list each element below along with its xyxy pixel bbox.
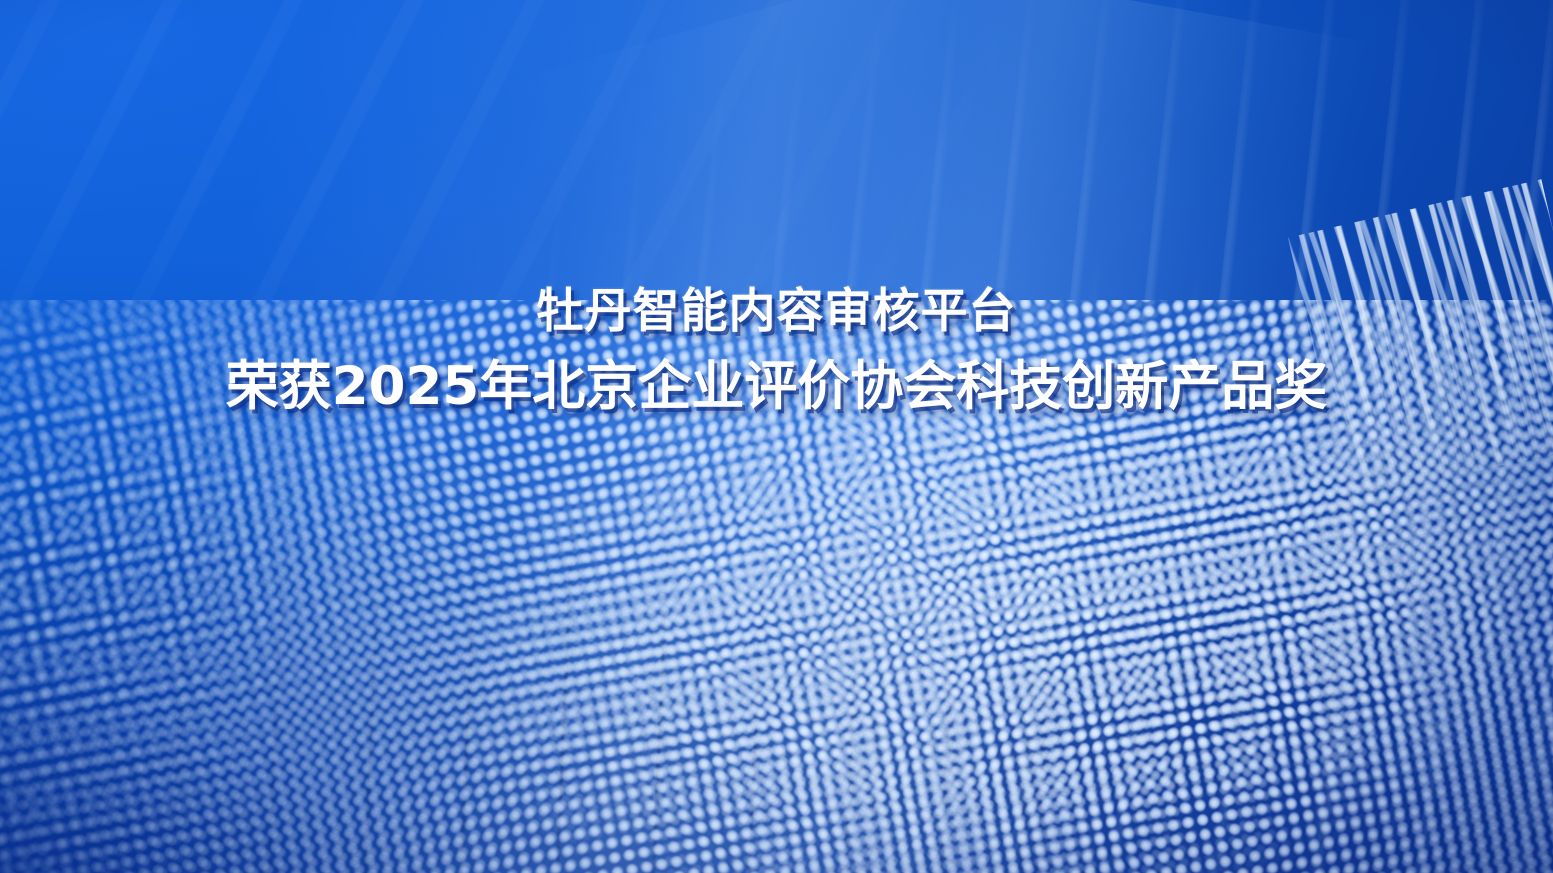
dark-diagonal-streaks	[0, 0, 1553, 873]
headline-block: 牡丹智能内容审核平台 荣获2025年北京企业评价协会科技创新产品奖	[0, 288, 1553, 413]
headline-line-2: 荣获2025年北京企业评价协会科技创新产品奖	[0, 360, 1553, 413]
upper-left-light-shafts	[0, 0, 1553, 873]
background-base-gradient	[0, 0, 1553, 873]
poster-banner: 牡丹智能内容审核平台 荣获2025年北京企业评价协会科技创新产品奖	[0, 0, 1553, 873]
background-deep-bottom-right	[0, 0, 1553, 873]
flowing-light-ribbons-lower	[0, 0, 1553, 873]
diagonal-light-sweep-primary	[0, 0, 1553, 873]
vignette-overlay	[0, 0, 1553, 873]
background-headline-halo	[0, 0, 1553, 873]
headline-line-1: 牡丹智能内容审核平台	[0, 288, 1553, 335]
dark-diagonal-streaks-lower	[0, 0, 1553, 873]
background-deep-bottom-left	[0, 0, 1553, 873]
diagonal-light-sweep-secondary	[0, 0, 1553, 873]
flowing-light-ribbons	[0, 0, 1553, 873]
diagonal-light-sweep-tertiary	[0, 0, 1553, 873]
